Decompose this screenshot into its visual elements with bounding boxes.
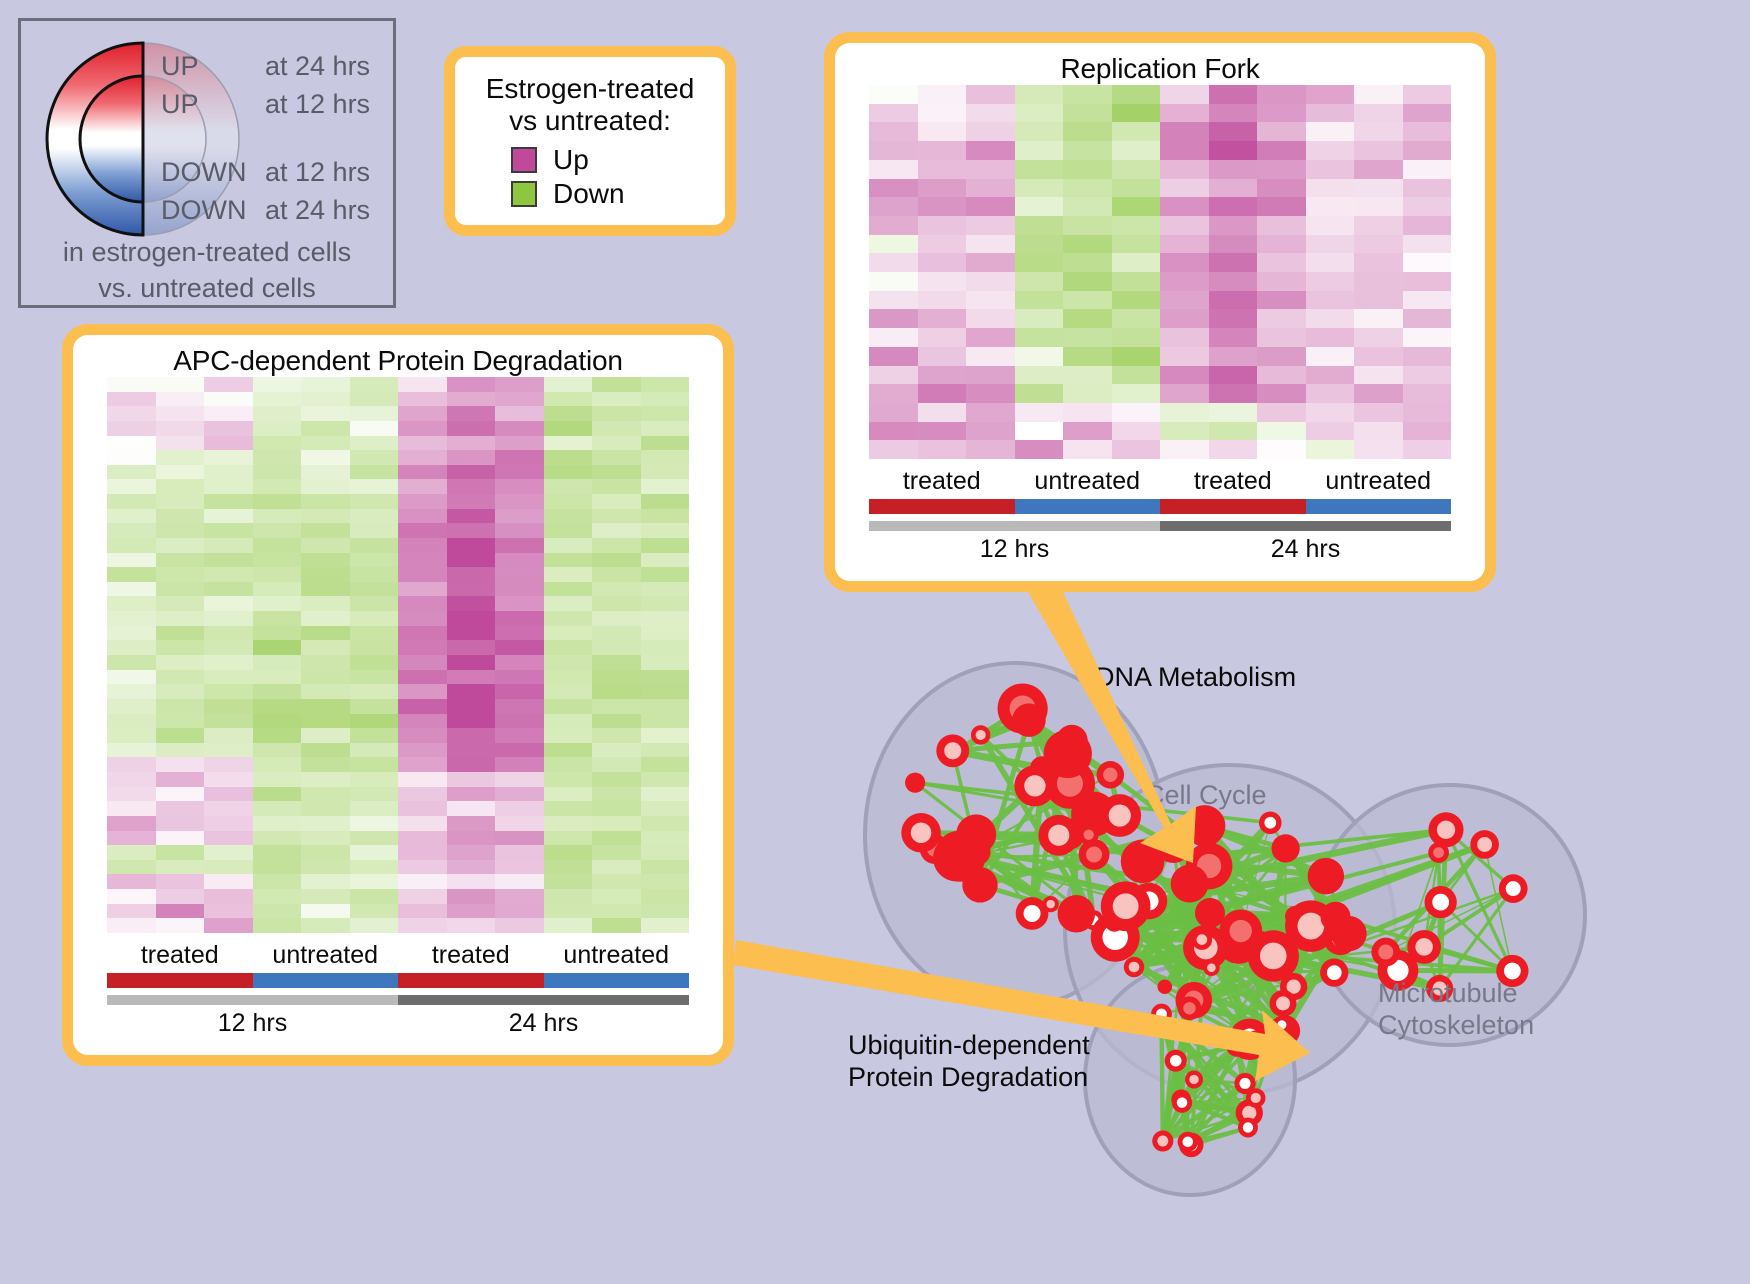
- heatmap-cell: [592, 421, 641, 436]
- network-node[interactable]: [1238, 1118, 1258, 1138]
- heatmap-cell: [253, 655, 302, 670]
- heatmap-cell: [1403, 309, 1452, 328]
- heatmap-cell: [641, 392, 690, 407]
- heatmap-cell: [544, 611, 593, 626]
- heatmap-cell: [350, 479, 399, 494]
- heatmap-cell: [301, 567, 350, 582]
- heatmap-cell: [301, 626, 350, 641]
- heatmap-cell: [544, 714, 593, 729]
- legend-title: Estrogen-treated vs untreated:: [455, 57, 725, 137]
- heatmap-cell: [544, 465, 593, 480]
- heatmap-cell: [1257, 197, 1306, 216]
- heatmap-cell: [1112, 141, 1161, 160]
- network-node[interactable]: [901, 813, 941, 853]
- network-node[interactable]: [1124, 957, 1144, 977]
- heatmap-cell: [1015, 85, 1064, 104]
- heatmap-cell: [869, 291, 918, 310]
- heatmap-cell: [641, 596, 690, 611]
- heatmap-cell: [641, 655, 690, 670]
- timepoint-label: 12 hrs: [869, 535, 1160, 564]
- heatmap-cell: [966, 253, 1015, 272]
- heatmap-cell: [204, 845, 253, 860]
- heatmap-cell: [447, 918, 496, 933]
- heatmap-cell: [495, 801, 544, 816]
- network-node[interactable]: [963, 838, 990, 865]
- heatmap-cell: [869, 104, 918, 123]
- heatmap-cell: [204, 889, 253, 904]
- heatmap-cell: [253, 392, 302, 407]
- heatmap-cell: [398, 889, 447, 904]
- heatmap-cell: [253, 450, 302, 465]
- heatmap-cell: [447, 655, 496, 670]
- heatmap-cell: [1063, 328, 1112, 347]
- heatmap-cell: [1257, 85, 1306, 104]
- heatmap-cell: [156, 874, 205, 889]
- heatmap-cell: [204, 523, 253, 538]
- apc-degradation-panel: APC-dependent Protein Degradation treate…: [62, 324, 734, 1066]
- condition-label: untreated: [1015, 467, 1161, 496]
- heatmap-cell: [1209, 403, 1258, 422]
- expression-direction-key: UP at 24 hrs UP at 12 hrs DOWN at 12 hrs…: [18, 18, 396, 308]
- network-node[interactable]: [1079, 825, 1099, 845]
- heatmap-cell: [156, 904, 205, 919]
- network-node[interactable]: [1158, 979, 1173, 994]
- heatmap-cell: [544, 889, 593, 904]
- heatmap-cell: [107, 596, 156, 611]
- heatmap-cell: [447, 479, 496, 494]
- heatmap-cell: [1354, 216, 1403, 235]
- heatmap-cell: [204, 436, 253, 451]
- heatmap-cell: [447, 421, 496, 436]
- heatmap-cell: [869, 328, 918, 347]
- heatmap-cell: [918, 160, 967, 179]
- heatmap-cell: [350, 538, 399, 553]
- timepoint-label: 24 hrs: [398, 1009, 689, 1038]
- network-node[interactable]: [1320, 958, 1348, 986]
- heatmap-cell: [1403, 160, 1452, 179]
- heatmap-cell: [156, 918, 205, 933]
- heatmap-cell: [301, 494, 350, 509]
- network-node[interactable]: [1424, 886, 1456, 918]
- timepoint-labels: 12 hrs 24 hrs: [107, 1009, 689, 1038]
- heatmap-cell: [204, 874, 253, 889]
- heatmap-cell: [398, 772, 447, 787]
- heatmap-cell: [592, 465, 641, 480]
- heatmap-cell: [301, 670, 350, 685]
- heatmap-cell: [156, 582, 205, 597]
- heatmap-cell: [1160, 309, 1209, 328]
- heatmap-cell: [641, 406, 690, 421]
- heatmap-cell: [301, 450, 350, 465]
- heatmap-cell: [641, 889, 690, 904]
- heatmap-cell: [398, 699, 447, 714]
- network-node[interactable]: [1428, 812, 1463, 847]
- heatmap-cell: [156, 465, 205, 480]
- network-node[interactable]: [1192, 929, 1213, 950]
- heatmap-cell: [592, 596, 641, 611]
- heatmap-cell: [156, 523, 205, 538]
- network-node[interactable]: [1203, 959, 1220, 976]
- heatmap-cell: [641, 582, 690, 597]
- heatmap-cell: [204, 728, 253, 743]
- heatmap-cell: [398, 904, 447, 919]
- network-node[interactable]: [1470, 830, 1499, 859]
- heatmap-cell: [156, 889, 205, 904]
- network-node[interactable]: [1246, 1088, 1266, 1108]
- heatmap-cell: [495, 377, 544, 392]
- network-node[interactable]: [971, 725, 991, 745]
- heatmap-cell: [592, 889, 641, 904]
- heatmap-cell: [641, 816, 690, 831]
- heatmap-cell: [1306, 309, 1355, 328]
- heatmap-cell: [641, 918, 690, 933]
- heatmap-cell: [253, 728, 302, 743]
- heatmap-cell: [544, 743, 593, 758]
- network-node[interactable]: [1195, 898, 1225, 928]
- heatmap-cell: [966, 104, 1015, 123]
- heatmap-cell: [107, 626, 156, 641]
- network-node[interactable]: [1178, 996, 1202, 1020]
- network-node[interactable]: [1428, 842, 1449, 863]
- heatmap-cell: [1063, 253, 1112, 272]
- heatmap-cell: [204, 406, 253, 421]
- network-node[interactable]: [1371, 938, 1400, 967]
- heatmap-cell: [107, 582, 156, 597]
- network-node[interactable]: [1226, 1034, 1248, 1056]
- cluster-label-dna-metabolism: DNA Metabolism: [1095, 662, 1296, 693]
- network-node[interactable]: [1178, 1132, 1198, 1152]
- cluster-label-microtubule-cytoskeleton: Microtubule Cytoskeleton: [1378, 978, 1534, 1042]
- heatmap-cell: [1015, 141, 1064, 160]
- heatmap-cell: [1403, 85, 1452, 104]
- network-node[interactable]: [1248, 930, 1299, 981]
- heatmap-cell: [495, 406, 544, 421]
- heatmap-cell: [966, 235, 1015, 254]
- heatmap-cell: [204, 450, 253, 465]
- heatmap-cell: [544, 684, 593, 699]
- heatmap-cell: [1209, 347, 1258, 366]
- heatmap-cell: [544, 553, 593, 568]
- heatmap-cell: [253, 714, 302, 729]
- heatmap-cell: [156, 377, 205, 392]
- heatmap-cell: [350, 684, 399, 699]
- heatmap-cell: [156, 757, 205, 772]
- heatmap-cell: [1112, 85, 1161, 104]
- heatmap-cell: [1257, 422, 1306, 441]
- heatmap-cell: [350, 860, 399, 875]
- heatmap-cell: [398, 377, 447, 392]
- network-node[interactable]: [1038, 815, 1079, 856]
- heatmap-cell: [641, 860, 690, 875]
- heatmap-cell: [350, 670, 399, 685]
- heatmap-cell: [869, 253, 918, 272]
- heatmap-cell: [447, 699, 496, 714]
- heatmap-cell: [495, 421, 544, 436]
- heatmap-cell: [544, 845, 593, 860]
- heatmap-cell: [156, 538, 205, 553]
- network-node[interactable]: [1270, 990, 1297, 1017]
- heatmap-cell: [1306, 291, 1355, 310]
- heatmap-cell: [641, 699, 690, 714]
- heatmap-cell: [495, 918, 544, 933]
- heatmap-cell: [495, 479, 544, 494]
- key-caption-line2: vs. untreated cells: [21, 271, 393, 307]
- heatmap-cell: [301, 421, 350, 436]
- heatmap-cell: [1112, 272, 1161, 291]
- heatmap-cell: [204, 421, 253, 436]
- pathway-network-diagram: DNA Metabolism Cell Cycle Microtubule Cy…: [790, 610, 1750, 1279]
- heatmap-cell: [253, 874, 302, 889]
- heatmap-cell: [447, 611, 496, 626]
- network-node[interactable]: [1185, 1070, 1203, 1088]
- heatmap-cell: [301, 582, 350, 597]
- heatmap-cell: [1257, 141, 1306, 160]
- network-node[interactable]: [1079, 839, 1110, 870]
- heatmap-cell: [1403, 403, 1452, 422]
- network-node[interactable]: [1171, 865, 1209, 903]
- network-node[interactable]: [1152, 1130, 1173, 1151]
- heatmap-cell: [495, 787, 544, 802]
- heatmap-cell: [1306, 85, 1355, 104]
- heatmap-cell: [204, 567, 253, 582]
- network-node[interactable]: [1172, 1092, 1192, 1112]
- heatmap-cell: [641, 626, 690, 641]
- heatmap-cell: [1306, 160, 1355, 179]
- network-node[interactable]: [1101, 881, 1151, 931]
- heatmap-cell: [641, 904, 690, 919]
- heatmap-cell: [495, 465, 544, 480]
- heatmap-cell: [301, 845, 350, 860]
- heatmap-cell: [253, 801, 302, 816]
- heatmap-cell: [350, 757, 399, 772]
- heatmap-cell: [204, 904, 253, 919]
- heatmap-cell: [204, 465, 253, 480]
- heatmap-cell: [398, 684, 447, 699]
- heatmap-cell: [641, 728, 690, 743]
- heatmap-cell: [641, 450, 690, 465]
- network-node[interactable]: [1308, 858, 1344, 894]
- heatmap-cell: [1257, 160, 1306, 179]
- heatmap-cell: [1403, 141, 1452, 160]
- network-node[interactable]: [1043, 896, 1059, 912]
- heatmap-cell: [1209, 216, 1258, 235]
- up-down-legend-panel: Estrogen-treated vs untreated: Up Down: [444, 46, 736, 236]
- network-node[interactable]: [936, 734, 969, 767]
- heatmap-cell: [1160, 253, 1209, 272]
- heatmap-cell: [1112, 179, 1161, 198]
- heatmap-cell: [398, 596, 447, 611]
- heatmap-cell: [253, 509, 302, 524]
- heatmap-cell: [398, 538, 447, 553]
- heatmap-cell: [1403, 347, 1452, 366]
- network-node[interactable]: [1320, 902, 1350, 932]
- heatmap-cell: [641, 465, 690, 480]
- heatmap-cell: [156, 450, 205, 465]
- network-node[interactable]: [1273, 1016, 1290, 1033]
- condition-label: untreated: [544, 941, 690, 970]
- network-node[interactable]: [1165, 1050, 1187, 1072]
- heatmap-cell: [350, 626, 399, 641]
- heatmap-cell: [1403, 440, 1452, 459]
- heatmap-cell: [204, 479, 253, 494]
- heatmap-cell: [1160, 366, 1209, 385]
- heatmap-cell: [253, 538, 302, 553]
- heatmap-cell: [1015, 347, 1064, 366]
- heatmap-cell: [204, 816, 253, 831]
- heatmap-cell: [1209, 328, 1258, 347]
- heatmap-cell: [1257, 384, 1306, 403]
- heatmap-cell: [495, 714, 544, 729]
- heatmap-cell: [1306, 403, 1355, 422]
- heatmap-cell: [350, 553, 399, 568]
- heatmap-cell: [1015, 179, 1064, 198]
- heatmap-cell: [107, 465, 156, 480]
- key-direction: DOWN: [161, 157, 265, 188]
- heatmap-cell: [447, 757, 496, 772]
- heatmap-cell: [350, 494, 399, 509]
- heatmap-cell: [447, 845, 496, 860]
- network-node[interactable]: [1259, 811, 1282, 834]
- heatmap-cell: [301, 772, 350, 787]
- heatmap-cell: [592, 787, 641, 802]
- network-node[interactable]: [1098, 794, 1141, 837]
- network-node[interactable]: [1044, 730, 1092, 778]
- heatmap-cell: [544, 787, 593, 802]
- heatmap-cell: [641, 757, 690, 772]
- heatmap-cell: [253, 743, 302, 758]
- heatmap-cell: [1015, 197, 1064, 216]
- heatmap-cell: [869, 85, 918, 104]
- heatmap-cell: [641, 421, 690, 436]
- heatmap-cell: [495, 831, 544, 846]
- heatmap-cell: [156, 772, 205, 787]
- heatmap-cell: [592, 816, 641, 831]
- condition-swatch: [1160, 499, 1306, 514]
- heatmap-cell: [918, 422, 967, 441]
- heatmap-cell: [253, 684, 302, 699]
- heatmap-cell: [1063, 422, 1112, 441]
- heatmap-cell: [592, 845, 641, 860]
- heatmap-cell: [592, 699, 641, 714]
- heatmap-cell: [918, 179, 967, 198]
- heatmap-cell: [1306, 235, 1355, 254]
- heatmap-cell: [398, 436, 447, 451]
- heatmap-cell: [966, 197, 1015, 216]
- heatmap-cell: [204, 553, 253, 568]
- heatmap-cell: [544, 860, 593, 875]
- heatmap-cell: [1403, 384, 1452, 403]
- heatmap-cell: [592, 655, 641, 670]
- heatmap-cell: [447, 831, 496, 846]
- heatmap-cell: [1063, 216, 1112, 235]
- heatmap-cell: [350, 436, 399, 451]
- heatmap-cell: [1015, 384, 1064, 403]
- heatmap-cell: [1112, 328, 1161, 347]
- heatmap-cell: [107, 421, 156, 436]
- heatmap-cell: [350, 567, 399, 582]
- heatmap-cell: [641, 874, 690, 889]
- network-node[interactable]: [1184, 805, 1225, 846]
- heatmap-cell: [641, 787, 690, 802]
- key-time: at 24 hrs: [265, 51, 370, 82]
- heatmap-cell: [1112, 216, 1161, 235]
- network-node[interactable]: [1407, 930, 1441, 964]
- network-node[interactable]: [1499, 874, 1528, 903]
- heatmap-cell: [156, 406, 205, 421]
- legend-label-up: Up: [553, 144, 589, 176]
- network-node[interactable]: [1271, 834, 1299, 862]
- heatmap-cell: [447, 523, 496, 538]
- network-node[interactable]: [1014, 765, 1055, 806]
- heatmap-cell: [869, 197, 918, 216]
- heatmap-cell: [1063, 403, 1112, 422]
- heatmap-cell: [1015, 291, 1064, 310]
- heatmap-cell: [204, 860, 253, 875]
- heatmap-cell: [495, 889, 544, 904]
- network-node[interactable]: [1151, 1004, 1172, 1025]
- heatmap-cell: [107, 392, 156, 407]
- network-node[interactable]: [1097, 761, 1125, 789]
- heatmap-cell: [544, 918, 593, 933]
- network-node[interactable]: [1012, 703, 1046, 737]
- heatmap-cell: [398, 743, 447, 758]
- key-time: at 24 hrs: [265, 195, 370, 226]
- network-node[interactable]: [1058, 895, 1096, 933]
- heatmap-cell: [495, 699, 544, 714]
- heatmap-cell: [107, 714, 156, 729]
- heatmap-cell: [447, 640, 496, 655]
- heatmap-cell: [918, 403, 967, 422]
- timepoint-swatch: [1160, 521, 1451, 531]
- heatmap-cell: [301, 728, 350, 743]
- heatmap-cell: [1160, 104, 1209, 123]
- heatmap-cell: [918, 328, 967, 347]
- heatmap-cell: [204, 772, 253, 787]
- heatmap-cell: [1160, 291, 1209, 310]
- heatmap-cell: [495, 392, 544, 407]
- heatmap-cell: [1403, 216, 1452, 235]
- heatmap-cell: [869, 440, 918, 459]
- heatmap-cell: [544, 655, 593, 670]
- key-caption-line1: in estrogen-treated cells: [21, 235, 393, 271]
- heatmap-cell: [350, 377, 399, 392]
- network-node[interactable]: [905, 773, 925, 793]
- heatmap-cell: [107, 436, 156, 451]
- heatmap-cell: [592, 567, 641, 582]
- heatmap-cell: [107, 567, 156, 582]
- heatmap-cell: [1209, 422, 1258, 441]
- heatmap-cell: [301, 684, 350, 699]
- heatmap-cell: [544, 831, 593, 846]
- heatmap-cell: [398, 714, 447, 729]
- heatmap-cell: [918, 309, 967, 328]
- network-node[interactable]: [1246, 1030, 1266, 1050]
- heatmap-cell: [592, 918, 641, 933]
- heatmap-cell: [398, 421, 447, 436]
- heatmap-cell: [592, 772, 641, 787]
- heatmap-cell: [1209, 160, 1258, 179]
- heatmap-apc-degradation: [107, 377, 689, 933]
- key-direction: UP: [161, 51, 265, 82]
- heatmap-cell: [398, 406, 447, 421]
- heatmap-cell: [1160, 422, 1209, 441]
- heatmap-cell: [447, 538, 496, 553]
- heatmap-cell: [1354, 104, 1403, 123]
- heatmap-cell: [107, 874, 156, 889]
- heatmap-cell: [156, 567, 205, 582]
- heatmap-cell: [1209, 141, 1258, 160]
- heatmap-cell: [204, 509, 253, 524]
